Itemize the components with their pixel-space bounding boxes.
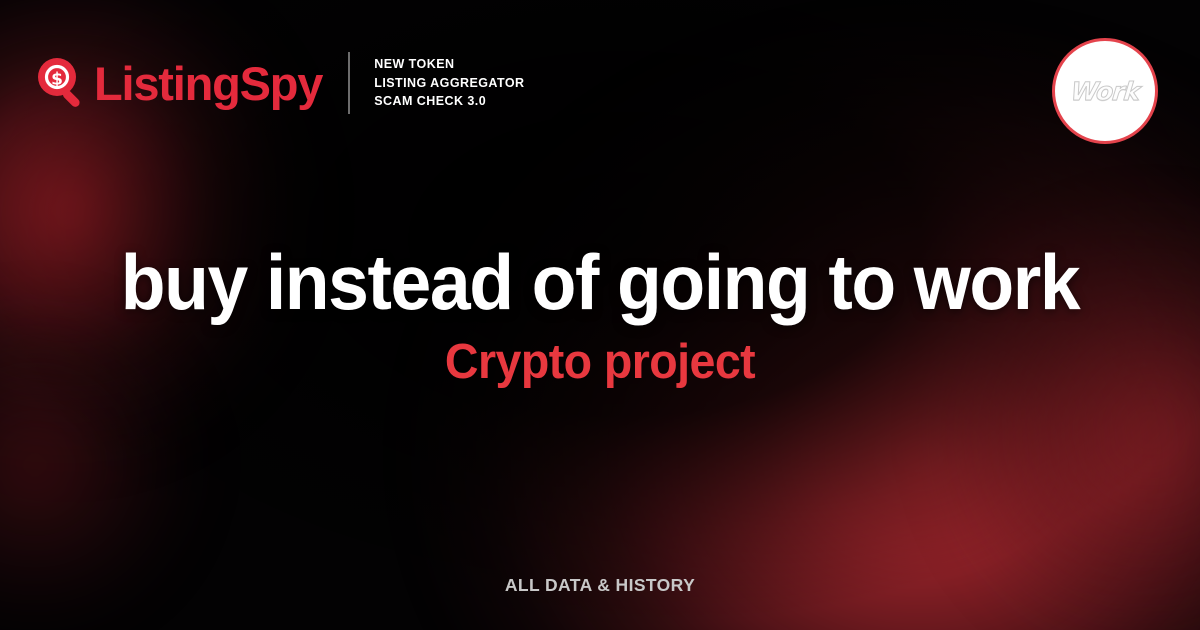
tagline-line-3: SCAM CHECK 3.0 [374,93,524,110]
work-partner-badge: Work [1052,38,1158,144]
og-banner-card: $ ListingSpy NEW TOKEN LISTING AGGREGATO… [0,0,1200,630]
footer-label: ALL DATA & HISTORY [505,575,695,595]
work-badge-label: Work [1069,77,1140,106]
page-subtitle: Crypto project [68,337,1132,388]
tagline-line-1: NEW TOKEN [374,56,524,73]
tagline-line-2: LISTING AGGREGATOR [374,75,524,92]
svg-text:$: $ [51,69,63,89]
footer: ALL DATA & HISTORY [0,575,1200,596]
brand-name: ListingSpy [94,60,322,107]
magnifier-dollar-icon: $ [36,57,88,109]
brand-name-primary: Listing [94,57,240,110]
background-glow-right-edge [880,150,1200,630]
main-content: buy instead of going to work Crypto proj… [0,243,1200,388]
page-title: buy instead of going to work [74,243,1127,323]
tagline: NEW TOKEN LISTING AGGREGATOR SCAM CHECK … [374,56,524,110]
brand-name-secondary: Spy [240,57,323,110]
brand-header: $ ListingSpy NEW TOKEN LISTING AGGREGATO… [36,52,524,114]
header-divider [348,52,350,114]
